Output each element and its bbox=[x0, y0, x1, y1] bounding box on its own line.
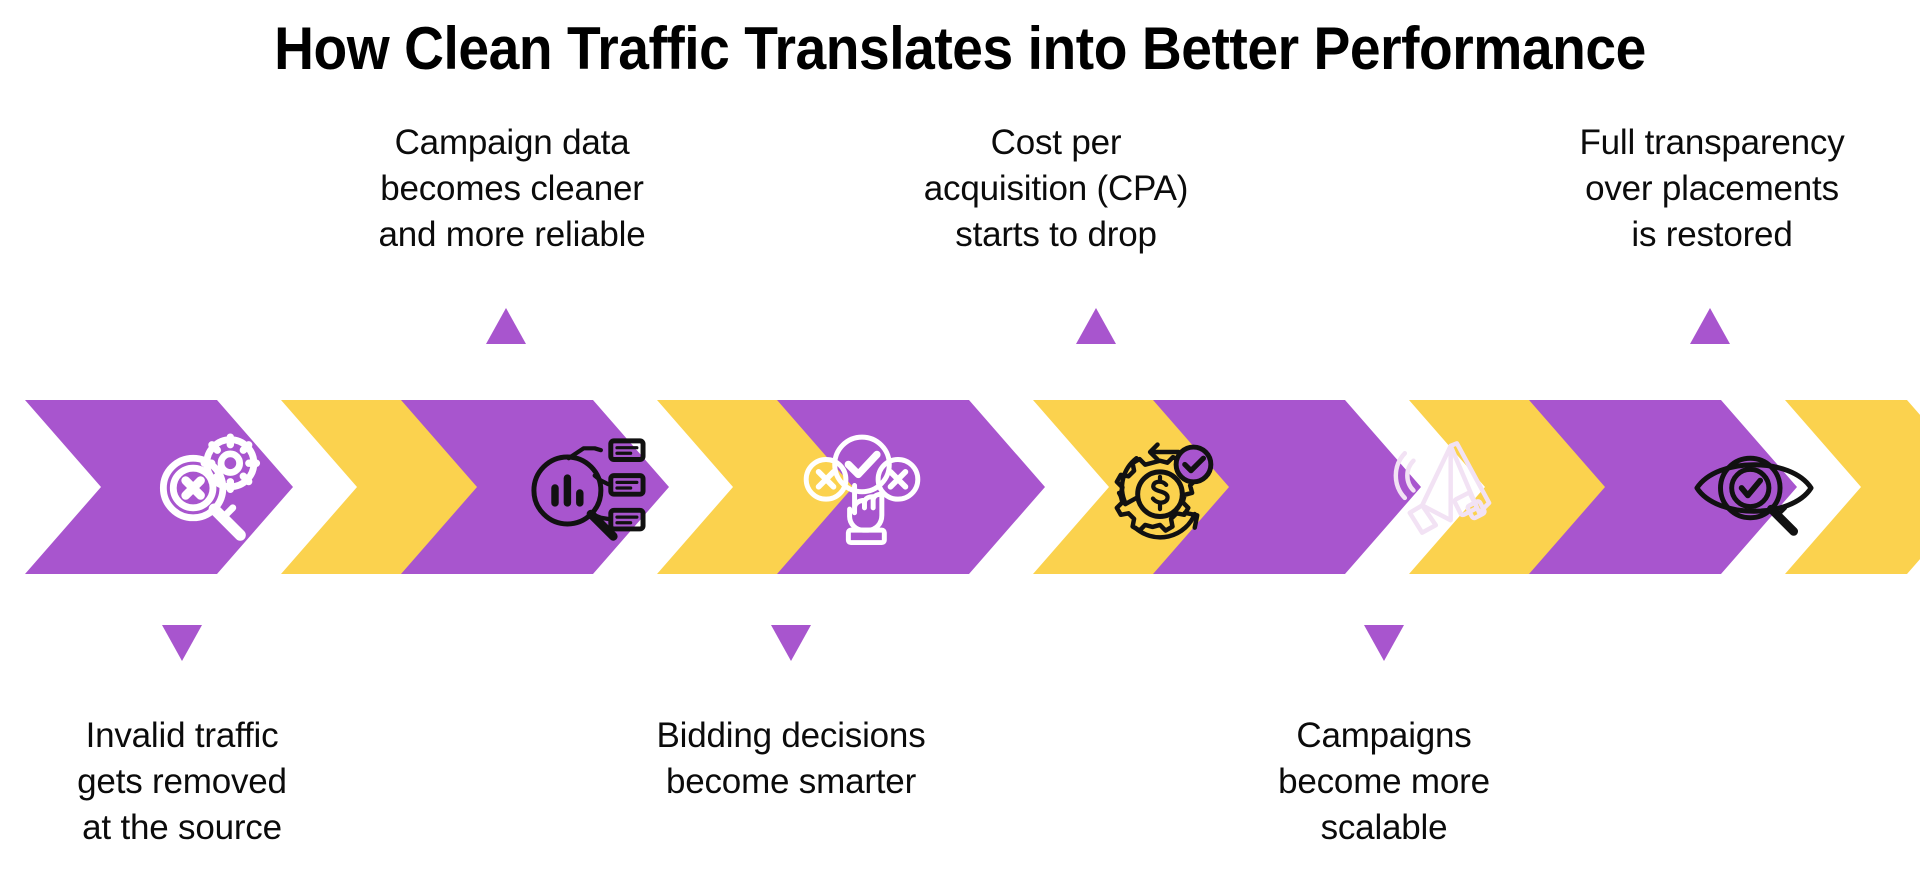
gear-dollar-refresh-check-icon bbox=[1098, 426, 1222, 550]
hand-pointer-check-x-icon bbox=[800, 426, 924, 550]
triangle-down-icon-invalid-traffic bbox=[162, 625, 202, 661]
triangle-down-icon-bidding-decisions bbox=[771, 625, 811, 661]
megaphone-icon bbox=[1380, 426, 1504, 550]
callout-top-cost-per-acquisition: Cost per acquisition (CPA) starts to dro… bbox=[820, 120, 1292, 258]
triangle-up-icon-cost-per-acquisition bbox=[1076, 308, 1116, 344]
callout-top-full-transparency: Full transparency over placements is res… bbox=[1476, 120, 1920, 258]
page-title: How Clean Traffic Translates into Better… bbox=[77, 14, 1843, 84]
callout-bottom-campaigns-scalable: Campaigns become more scalable bbox=[1148, 713, 1620, 851]
callout-top-campaign-data: Campaign data becomes cleaner and more r… bbox=[276, 120, 748, 258]
callout-bottom-invalid-traffic: Invalid traffic gets removed at the sour… bbox=[0, 713, 418, 851]
magnifier-x-gear-icon bbox=[146, 426, 270, 550]
triangle-down-icon-campaigns-scalable bbox=[1364, 625, 1404, 661]
process-chevron-band bbox=[0, 400, 1920, 574]
callout-bottom-bidding-decisions: Bidding decisions become smarter bbox=[555, 713, 1027, 805]
triangle-up-icon-campaign-data bbox=[486, 308, 526, 344]
magnifier-bar-chart-list-icon bbox=[524, 426, 648, 550]
triangle-up-icon-full-transparency bbox=[1690, 308, 1730, 344]
eye-magnifier-check-icon bbox=[1692, 426, 1816, 550]
